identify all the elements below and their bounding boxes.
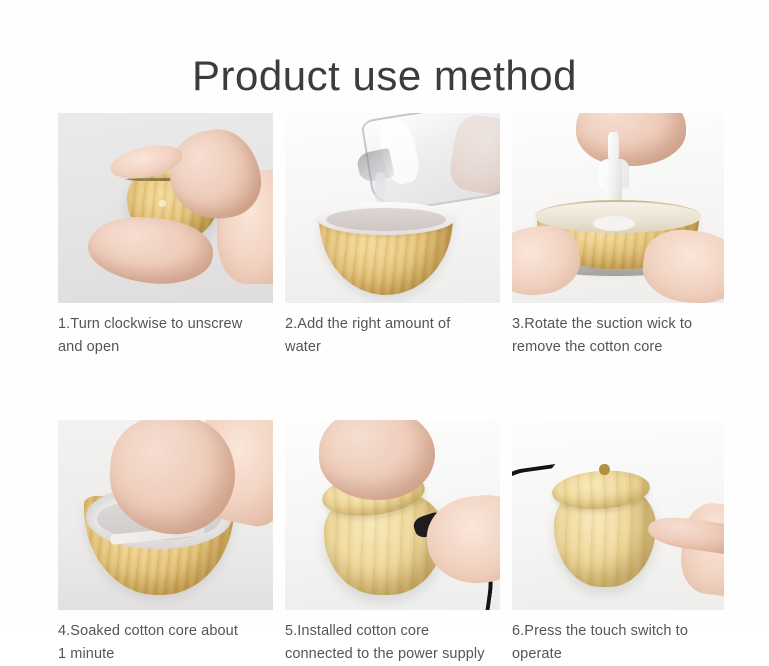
row-spacer-1 xyxy=(58,359,273,420)
step-6-image xyxy=(512,420,724,610)
water-surface xyxy=(326,208,446,231)
page-title: Product use method xyxy=(0,52,769,100)
step-2: 2.Add the right amount of water xyxy=(285,113,500,359)
step-1: 1.Turn clockwise to unscrew and open xyxy=(58,113,273,359)
row-spacer-3 xyxy=(512,359,724,420)
step-2-caption: 2.Add the right amount of water xyxy=(285,303,500,359)
mist-nozzle xyxy=(599,464,610,475)
step-6-caption: 6.Press the touch switch to operate xyxy=(512,610,724,666)
step-3: 3.Rotate the suction wick to remove the … xyxy=(512,113,724,359)
step-4-caption: 4.Soaked cotton core about 1 minute xyxy=(58,610,273,666)
step-4: 4.Soaked cotton core about 1 minute xyxy=(58,420,273,666)
wick-foot xyxy=(593,216,635,231)
step-5-image xyxy=(285,420,500,610)
wick-tip xyxy=(608,132,619,162)
step-5-caption: 5.Installed cotton core connected to the… xyxy=(285,610,500,666)
step-3-image xyxy=(512,113,724,303)
step-5: 5.Installed cotton core connected to the… xyxy=(285,420,500,666)
step-3-caption: 3.Rotate the suction wick to remove the … xyxy=(512,303,724,359)
steps-grid: 1.Turn clockwise to unscrew and open 2.A… xyxy=(58,113,712,666)
step-2-image xyxy=(285,113,500,303)
step-4-image xyxy=(58,420,273,610)
product-use-method-page: Product use method 1.Turn clockwise to u… xyxy=(0,0,769,626)
row-spacer-2 xyxy=(285,359,500,420)
step-6: 6.Press the touch switch to operate xyxy=(512,420,724,666)
step-1-image xyxy=(58,113,273,303)
step-1-caption: 1.Turn clockwise to unscrew and open xyxy=(58,303,273,359)
